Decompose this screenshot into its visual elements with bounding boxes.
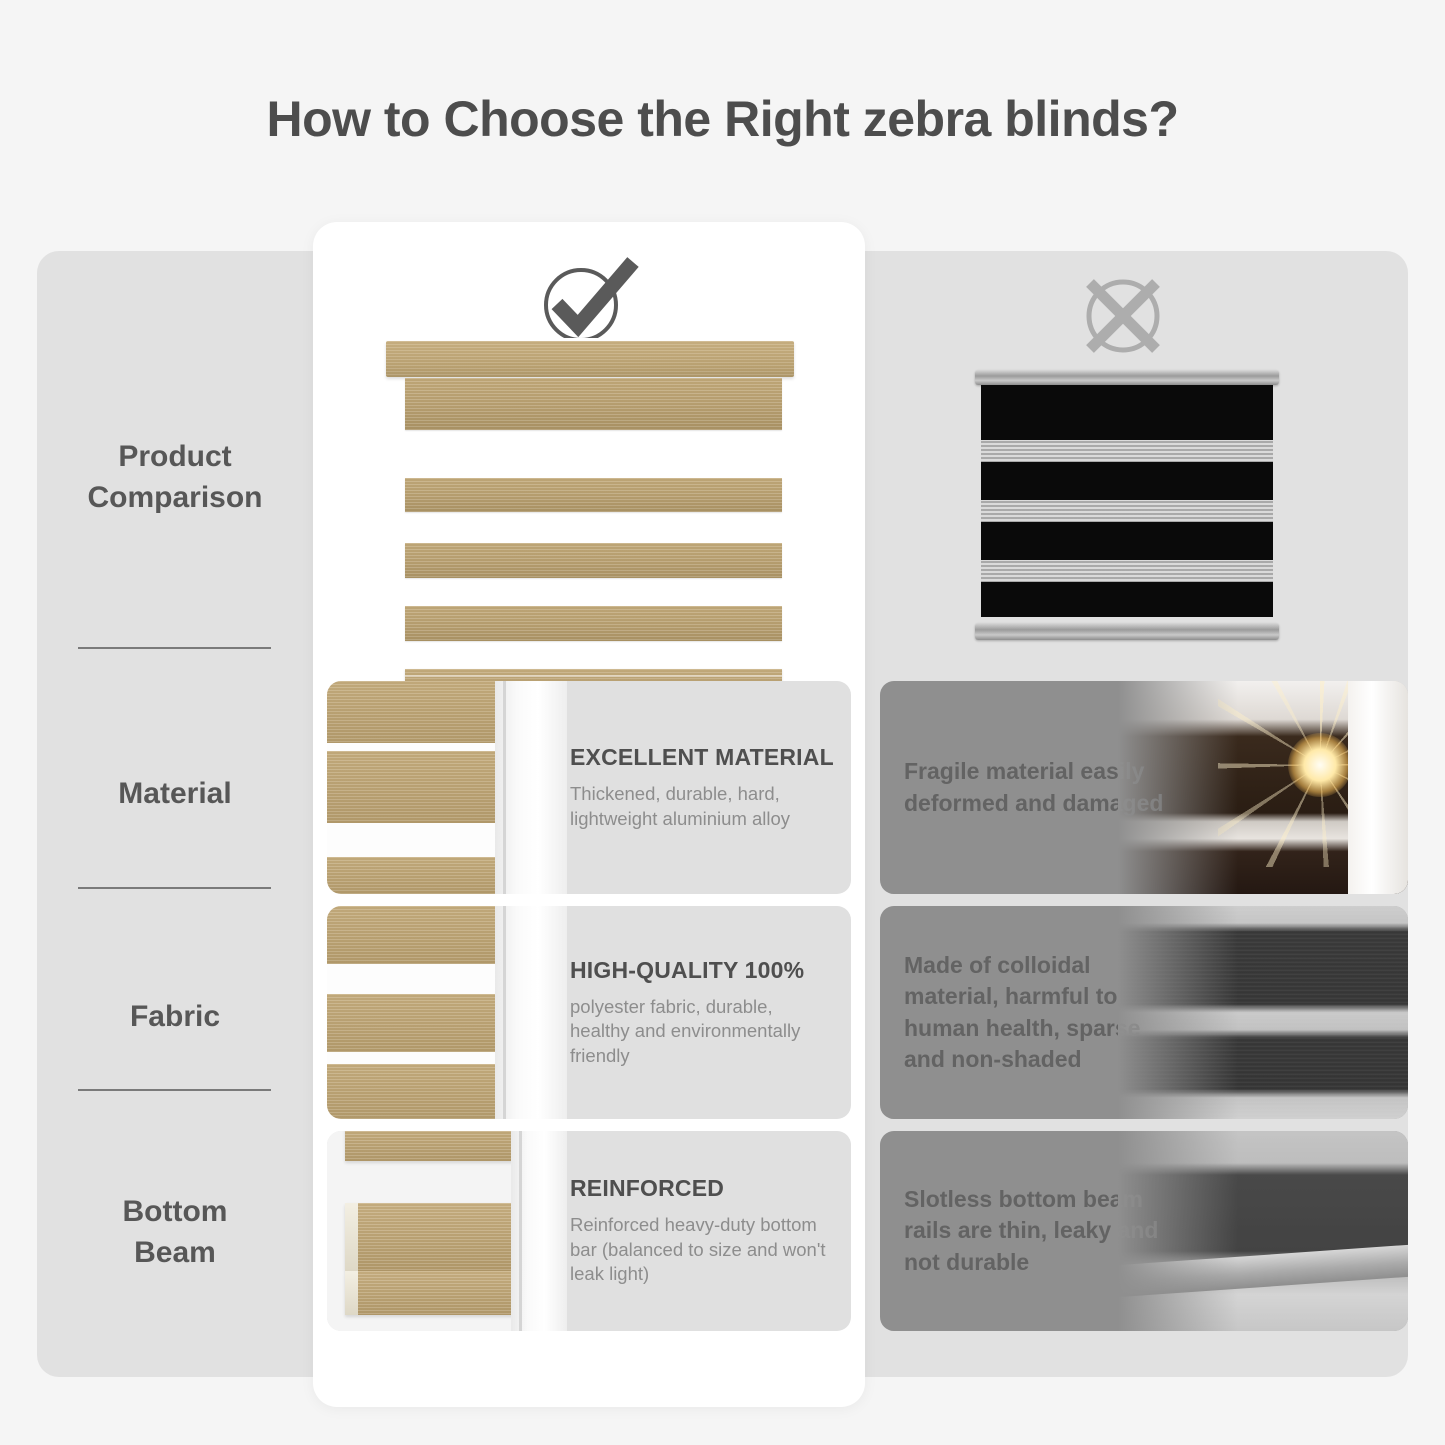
row-label-fabric: Fabric — [37, 996, 313, 1037]
blind-slat — [405, 378, 782, 430]
row-label-line1: Material — [37, 773, 313, 814]
good-fabric-photo — [327, 906, 567, 1119]
bad-blind-sheer-stripe — [981, 500, 1273, 522]
blind-slat — [405, 606, 782, 641]
row-label-material: Material — [37, 773, 313, 814]
bad-blind-sheer-stripe — [981, 560, 1273, 582]
row-label-product-comparison: Product Comparison — [37, 436, 313, 519]
bad-feature-card-fabric: Made of colloidal material, harmful to h… — [880, 906, 1408, 1119]
good-material-text: EXCELLENT MATERIAL Thickened, durable, h… — [570, 681, 835, 894]
feature-body: Reinforced heavy-duty bottom bar (balanc… — [570, 1213, 835, 1286]
row-divider-1 — [78, 647, 271, 649]
row-label-column: Product Comparison Material Fabric Botto… — [37, 251, 313, 1377]
good-hero-product-image — [383, 338, 795, 668]
feature-body: Thickened, durable, hard, lightweight al… — [570, 782, 835, 831]
bad-hero-product-image — [967, 368, 1287, 646]
good-fabric-text: HIGH-QUALITY 100% polyester fabric, dura… — [570, 906, 835, 1119]
row-label-line1: Product — [37, 436, 313, 477]
good-feature-card-fabric: HIGH-QUALITY 100% polyester fabric, dura… — [327, 906, 851, 1119]
feature-heading: REINFORCED — [570, 1175, 835, 1202]
bad-blind-fabric — [981, 385, 1273, 617]
blind-slat — [405, 543, 782, 578]
bad-feature-card-bottom-beam: Slotless bottom beam rails are thin, lea… — [880, 1131, 1408, 1331]
page-title: How to Choose the Right zebra blinds? — [0, 90, 1445, 148]
bad-feature-card-material: Fragile material easily deformed and dam… — [880, 681, 1408, 894]
blind-slat — [405, 478, 782, 512]
row-divider-3 — [78, 1089, 271, 1091]
blind-headrail — [386, 341, 794, 377]
good-bottom-beam-text: REINFORCED Reinforced heavy-duty bottom … — [570, 1131, 835, 1331]
row-label-line2: Beam — [37, 1232, 313, 1273]
bad-fabric-photo — [1118, 906, 1408, 1119]
bad-bottom-beam-photo — [1118, 1131, 1408, 1331]
cross-circle-icon — [1068, 268, 1178, 368]
good-feature-card-material: EXCELLENT MATERIAL Thickened, durable, h… — [327, 681, 851, 894]
row-label-line2: Comparison — [37, 477, 313, 518]
feature-body: polyester fabric, durable, healthy and e… — [570, 995, 835, 1068]
check-circle-icon — [533, 250, 643, 350]
good-material-photo — [327, 681, 567, 894]
bad-blind-bottom-rail — [975, 623, 1279, 640]
feature-heading: EXCELLENT MATERIAL — [570, 744, 835, 771]
feature-heading: HIGH-QUALITY 100% — [570, 957, 835, 984]
good-bottom-beam-photo — [327, 1131, 567, 1331]
good-feature-card-bottom-beam: REINFORCED Reinforced heavy-duty bottom … — [327, 1131, 851, 1331]
row-label-line1: Bottom — [37, 1191, 313, 1232]
bad-blind-headrail — [975, 370, 1279, 385]
row-label-line1: Fabric — [37, 996, 313, 1037]
row-divider-2 — [78, 887, 271, 889]
bad-blind-sheer-stripe — [981, 440, 1273, 462]
bad-material-photo — [1118, 681, 1408, 894]
row-label-bottom-beam: Bottom Beam — [37, 1191, 313, 1274]
